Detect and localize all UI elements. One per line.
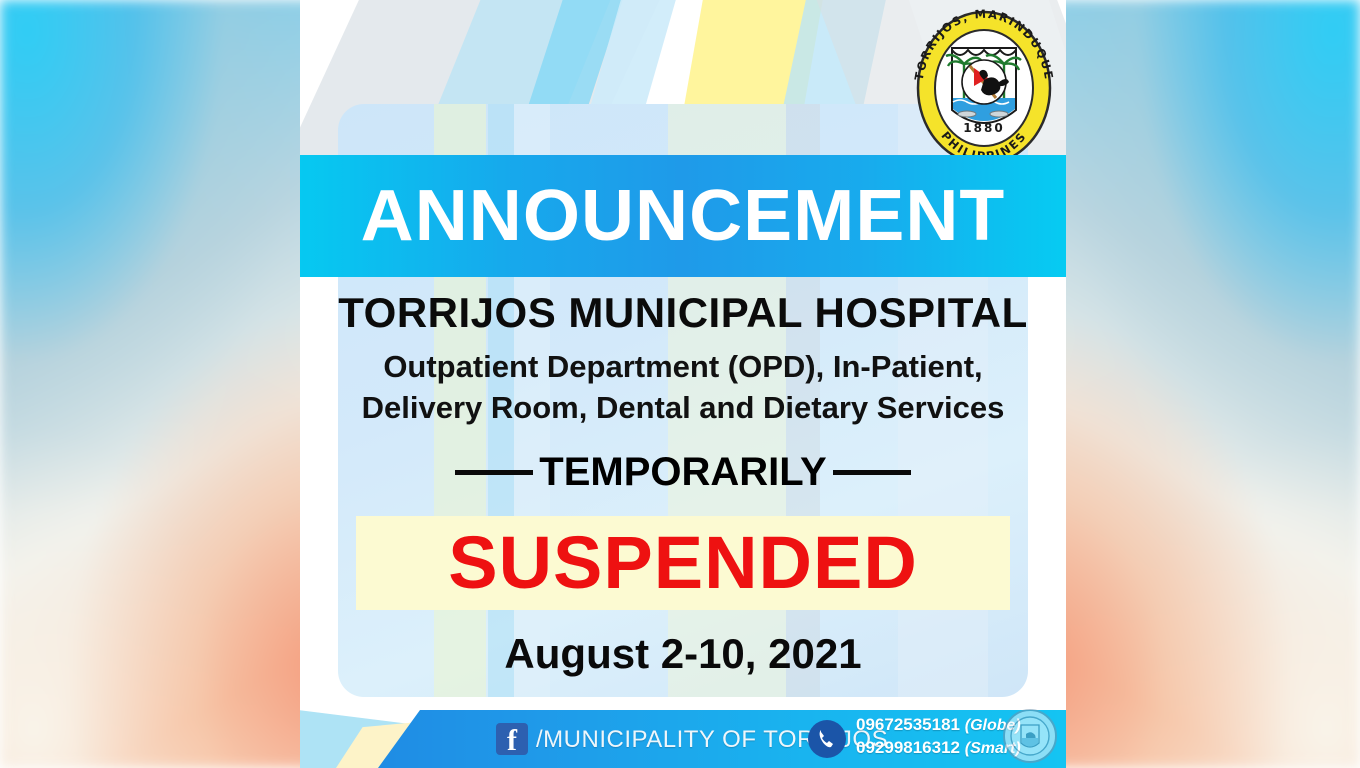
screenshot-stage: TORRIJOS, MARINDUQUE PHILIPPINES 1880 AN… <box>0 0 1360 768</box>
temporarily-row: TEMPORARILY <box>300 450 1066 495</box>
facebook-glyph: f <box>507 726 517 756</box>
announcement-banner: ANNOUNCEMENT <box>300 155 1066 277</box>
poster-footer: f /MUNICIPALITY OF TORRIJOS 09672535181 … <box>300 696 1066 768</box>
phone-number-1: 09672535181 <box>856 715 960 734</box>
date-range: August 2-10, 2021 <box>300 630 1066 678</box>
service-line-1: Outpatient Department (OPD), In-Patient, <box>300 347 1066 388</box>
affected-services: Outpatient Department (OPD), In-Patient,… <box>300 347 1066 429</box>
announcement-poster: TORRIJOS, MARINDUQUE PHILIPPINES 1880 AN… <box>300 0 1066 768</box>
backdrop-right <box>1020 0 1360 768</box>
status-label: SUSPENDED <box>448 526 918 600</box>
announcement-title: ANNOUNCEMENT <box>361 180 1006 252</box>
svg-text:1880: 1880 <box>963 121 1004 135</box>
temporarily-label: TEMPORARILY <box>539 450 826 495</box>
phone-number-2: 09299816312 <box>856 738 960 757</box>
footer-seal-watermark-icon <box>1002 708 1058 764</box>
rule-right <box>833 470 911 475</box>
status-badge: SUSPENDED <box>356 516 1010 610</box>
backdrop-left <box>0 0 340 768</box>
facebook-icon[interactable]: f <box>496 723 528 755</box>
hospital-name: TORRIJOS MUNICIPAL HOSPITAL <box>300 289 1066 337</box>
service-line-2: Delivery Room, Dental and Dietary Servic… <box>300 388 1066 429</box>
municipal-seal-icon: TORRIJOS, MARINDUQUE PHILIPPINES 1880 <box>904 6 1064 166</box>
contact-numbers: 09672535181 (Globe) 09299816312 (Smart) <box>856 714 1021 759</box>
phone-row-2: 09299816312 (Smart) <box>856 737 1021 759</box>
phone-icon <box>808 720 846 758</box>
phone-row-1: 09672535181 (Globe) <box>856 714 1021 736</box>
rule-left <box>455 470 533 475</box>
